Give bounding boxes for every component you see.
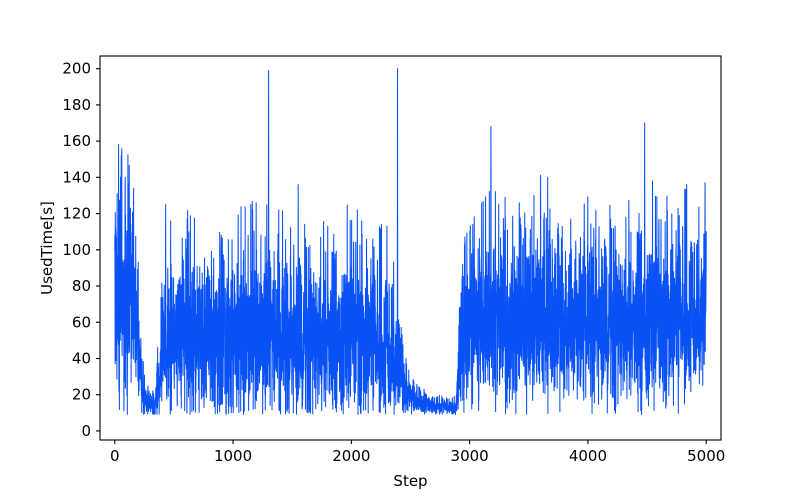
y-tick-label: 60: [72, 313, 91, 331]
x-tick-label: 0: [110, 447, 120, 465]
x-tick-label: 4000: [569, 447, 607, 465]
y-tick-label: 80: [72, 277, 91, 295]
y-tick-label: 40: [72, 349, 91, 367]
x-tick-label: 5000: [687, 447, 725, 465]
y-axis-label: UsedTime[s]: [38, 201, 56, 295]
y-tick-label: 140: [62, 168, 91, 186]
x-tick-label: 1000: [214, 447, 252, 465]
y-tick-label: 120: [62, 205, 91, 223]
x-tick-label: 3000: [451, 447, 489, 465]
chart-figure: 0100020003000400050000204060801001201401…: [0, 0, 800, 500]
y-tick-label: 200: [62, 60, 91, 78]
x-axis-label: Step: [393, 472, 427, 490]
y-tick-label: 0: [81, 422, 91, 440]
line-chart: 0100020003000400050000204060801001201401…: [0, 0, 800, 500]
y-tick-label: 20: [72, 386, 91, 404]
y-tick-label: 100: [62, 241, 91, 259]
x-tick-label: 2000: [332, 447, 370, 465]
y-tick-label: 160: [62, 132, 91, 150]
y-tick-label: 180: [62, 96, 91, 114]
